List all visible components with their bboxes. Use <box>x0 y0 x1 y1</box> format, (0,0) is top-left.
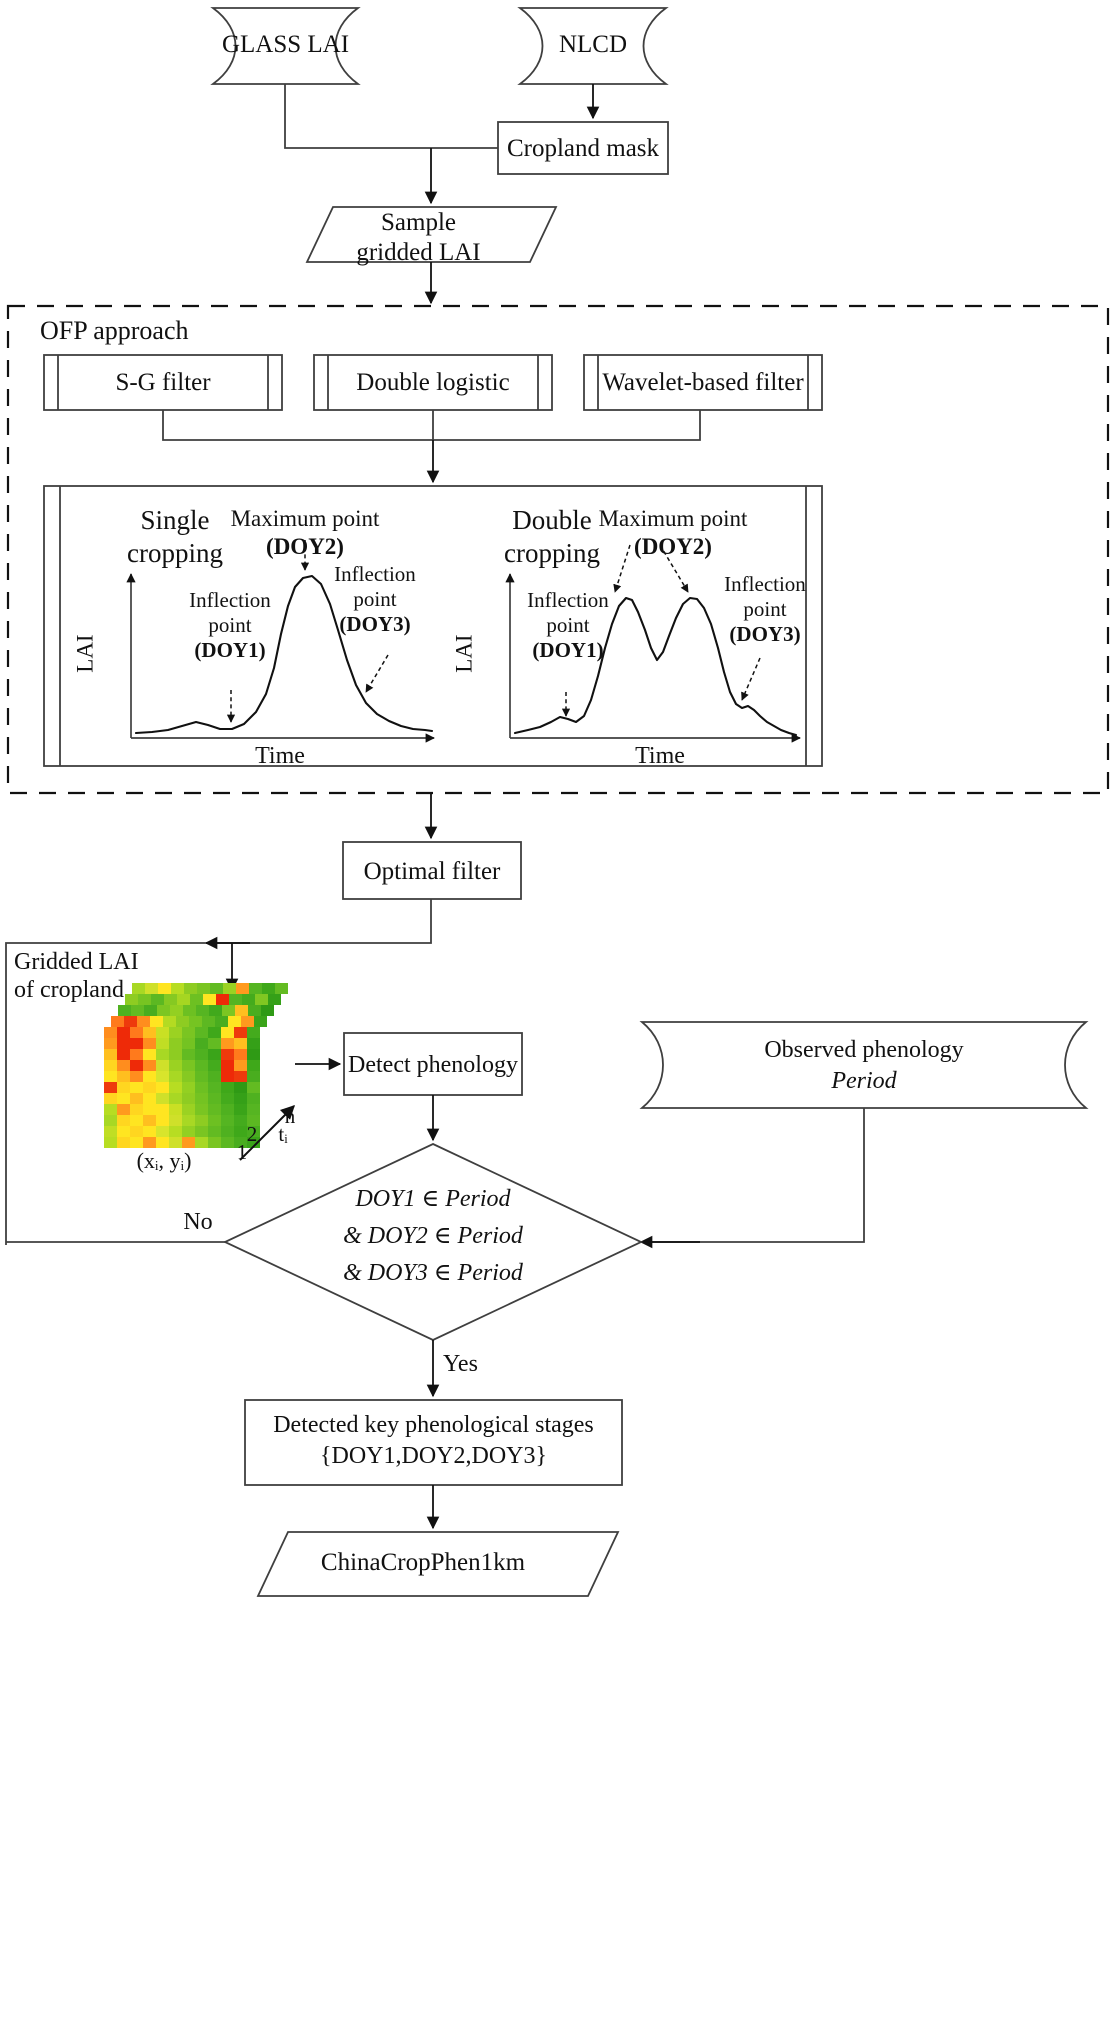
node-optimal-filter[interactable] <box>343 842 521 899</box>
node-cropland-mask[interactable] <box>498 122 668 174</box>
node-detect-phenology[interactable] <box>344 1033 522 1095</box>
node-observed-phenology[interactable] <box>642 1022 1086 1108</box>
node-nlcd[interactable] <box>520 8 666 84</box>
phenology-chart-panel <box>44 486 822 766</box>
node-wavelet-filter[interactable] <box>584 355 822 410</box>
node-sample-gridded-lai[interactable] <box>307 207 556 262</box>
cube-depth-axis <box>232 1090 312 1170</box>
node-detected-stages[interactable] <box>245 1400 622 1485</box>
node-glass-lai[interactable] <box>213 8 358 84</box>
flowchart-canvas: GLASS LAI NLCD Cropland mask Sample grid… <box>0 0 1119 2029</box>
node-sg-filter[interactable] <box>44 355 282 410</box>
node-double-logistic[interactable] <box>314 355 552 410</box>
node-chinacropphen1km[interactable] <box>258 1532 618 1596</box>
